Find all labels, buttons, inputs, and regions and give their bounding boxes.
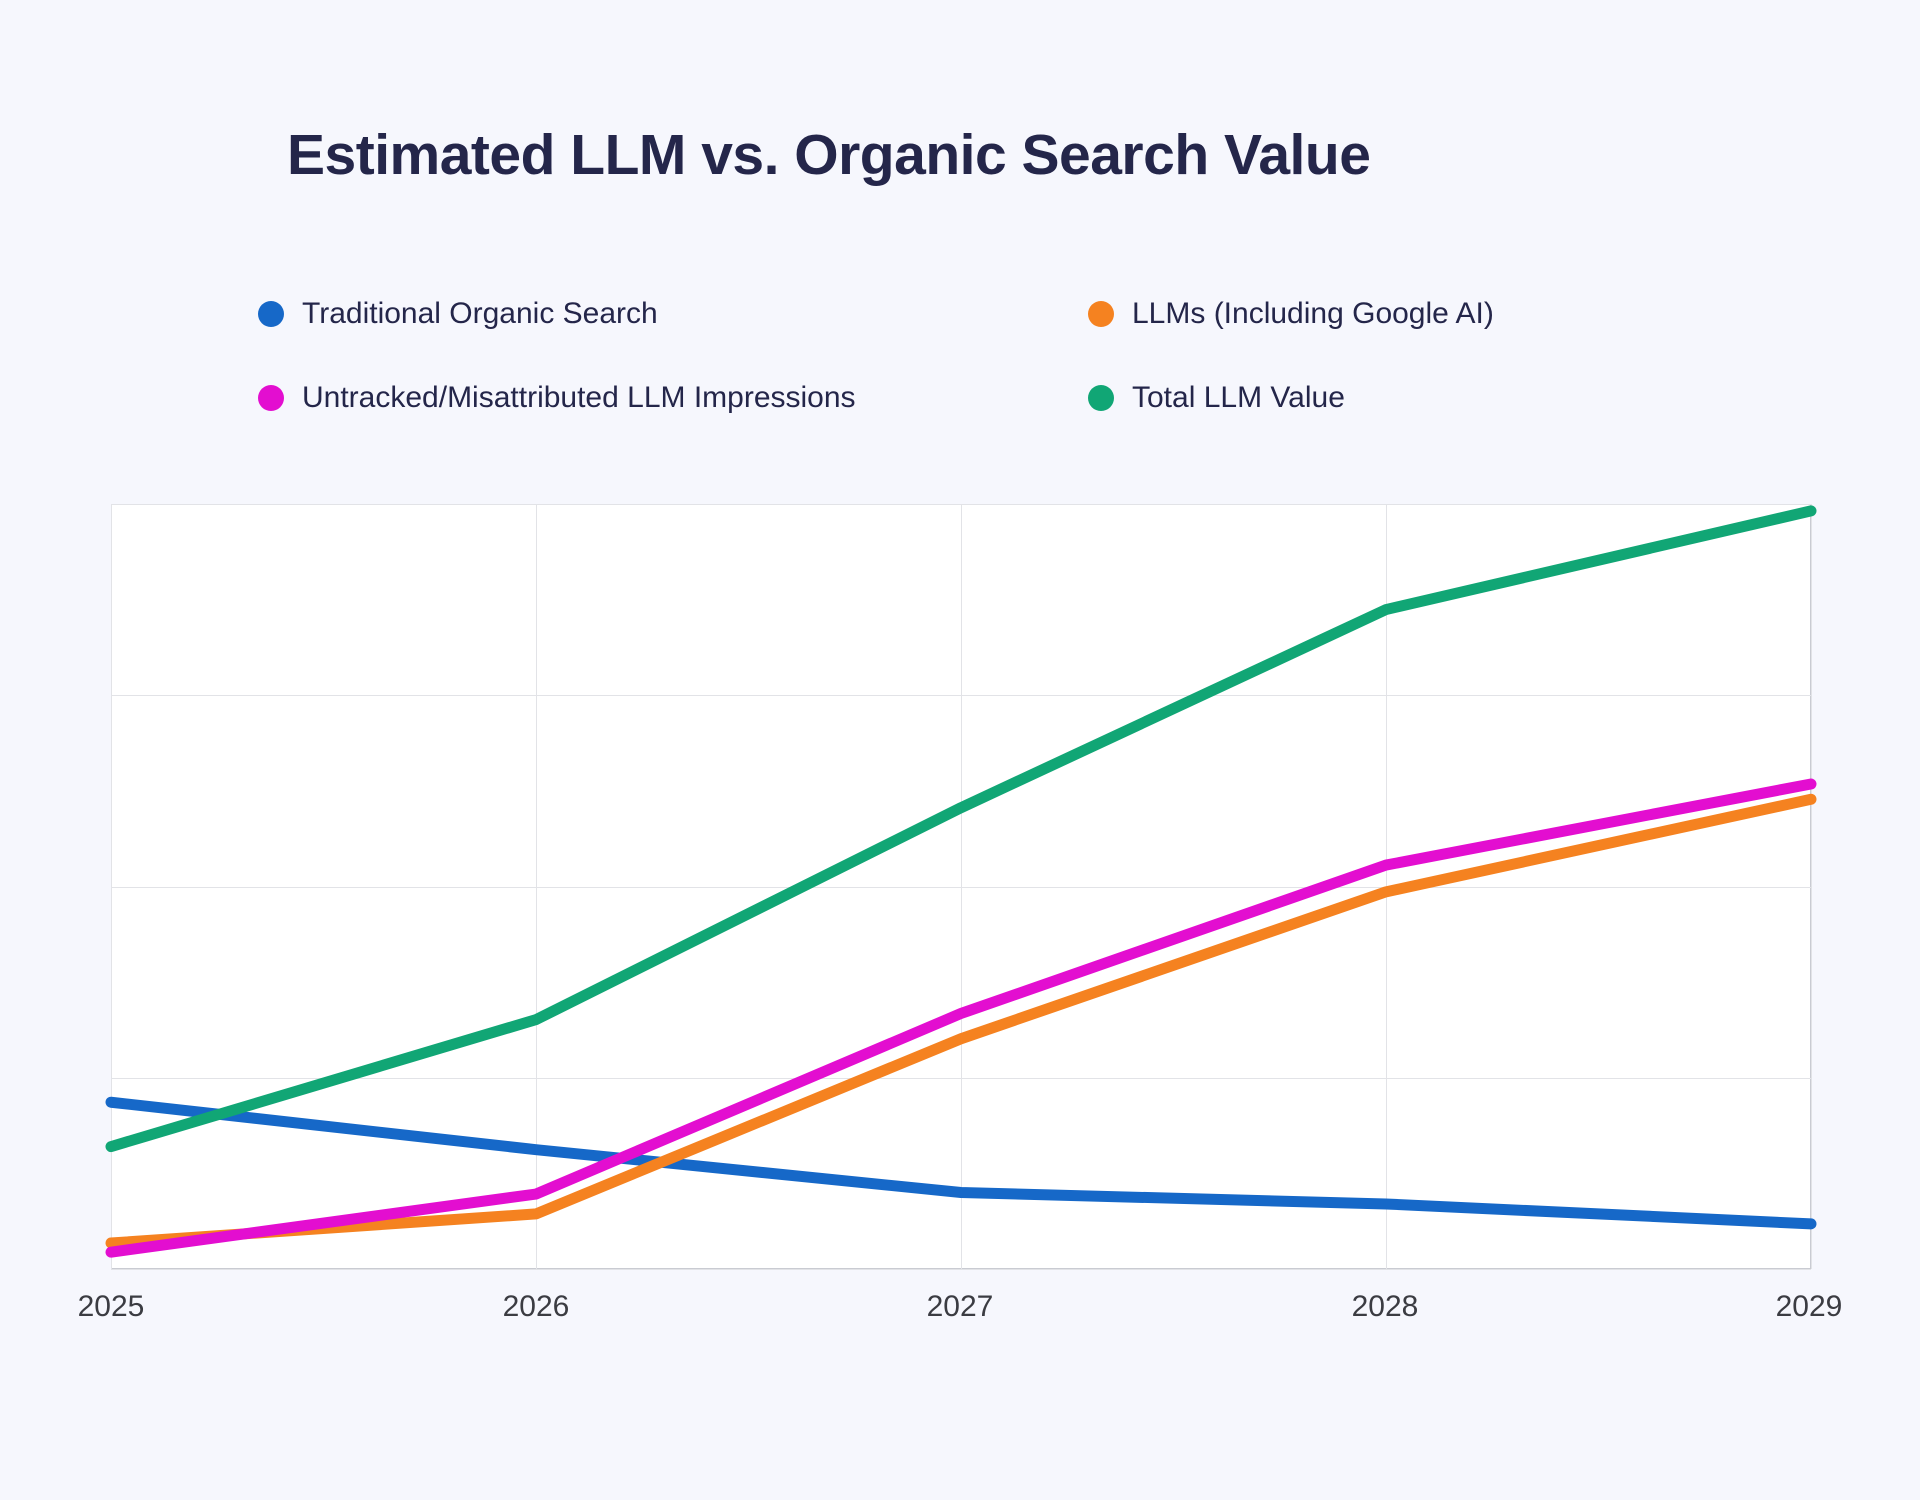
legend-row-2: Untracked/Misattributed LLM Impressions … <box>258 376 1658 460</box>
legend-dot-icon <box>258 301 284 327</box>
legend-dot-icon <box>1088 385 1114 411</box>
series-lines <box>111 504 1811 1269</box>
legend-item-label: Untracked/Misattributed LLM Impressions <box>302 383 856 413</box>
plot-area <box>111 504 1811 1269</box>
legend-item-untracked-misattributed-llm-impressions[interactable]: Untracked/Misattributed LLM Impressions <box>258 376 1088 420</box>
x-axis-tick-label: 2027 <box>927 1290 994 1324</box>
legend-dot-icon <box>1088 301 1114 327</box>
legend-row-1: Traditional Organic Search LLMs (Includi… <box>258 292 1658 376</box>
legend-item-total-llm-value[interactable]: Total LLM Value <box>1088 376 1648 420</box>
gridline-horizontal <box>111 1269 1811 1270</box>
legend-dot-icon <box>258 385 284 411</box>
x-axis-tick-label: 2028 <box>1352 1290 1419 1324</box>
x-axis-tick-label: 2026 <box>503 1290 570 1324</box>
series-line <box>111 799 1811 1243</box>
gridline-vertical <box>1811 504 1812 1269</box>
x-axis: 20252026202720282029 <box>0 1290 1920 1340</box>
chart-title: Estimated LLM vs. Organic Search Value <box>287 122 1370 188</box>
legend-item-traditional-organic-search[interactable]: Traditional Organic Search <box>258 292 1088 336</box>
legend-item-label: LLMs (Including Google AI) <box>1132 299 1494 329</box>
legend-item-label: Traditional Organic Search <box>302 299 658 329</box>
chart-legend: Traditional Organic Search LLMs (Includi… <box>258 292 1658 460</box>
legend-item-label: Total LLM Value <box>1132 383 1345 413</box>
series-line <box>111 1102 1811 1224</box>
x-axis-tick-label: 2025 <box>78 1290 145 1324</box>
chart-page: Estimated LLM vs. Organic Search Value T… <box>0 0 1920 1500</box>
legend-item-llms-including-google-ai[interactable]: LLMs (Including Google AI) <box>1088 292 1648 336</box>
x-axis-tick-label: 2029 <box>1776 1290 1843 1324</box>
